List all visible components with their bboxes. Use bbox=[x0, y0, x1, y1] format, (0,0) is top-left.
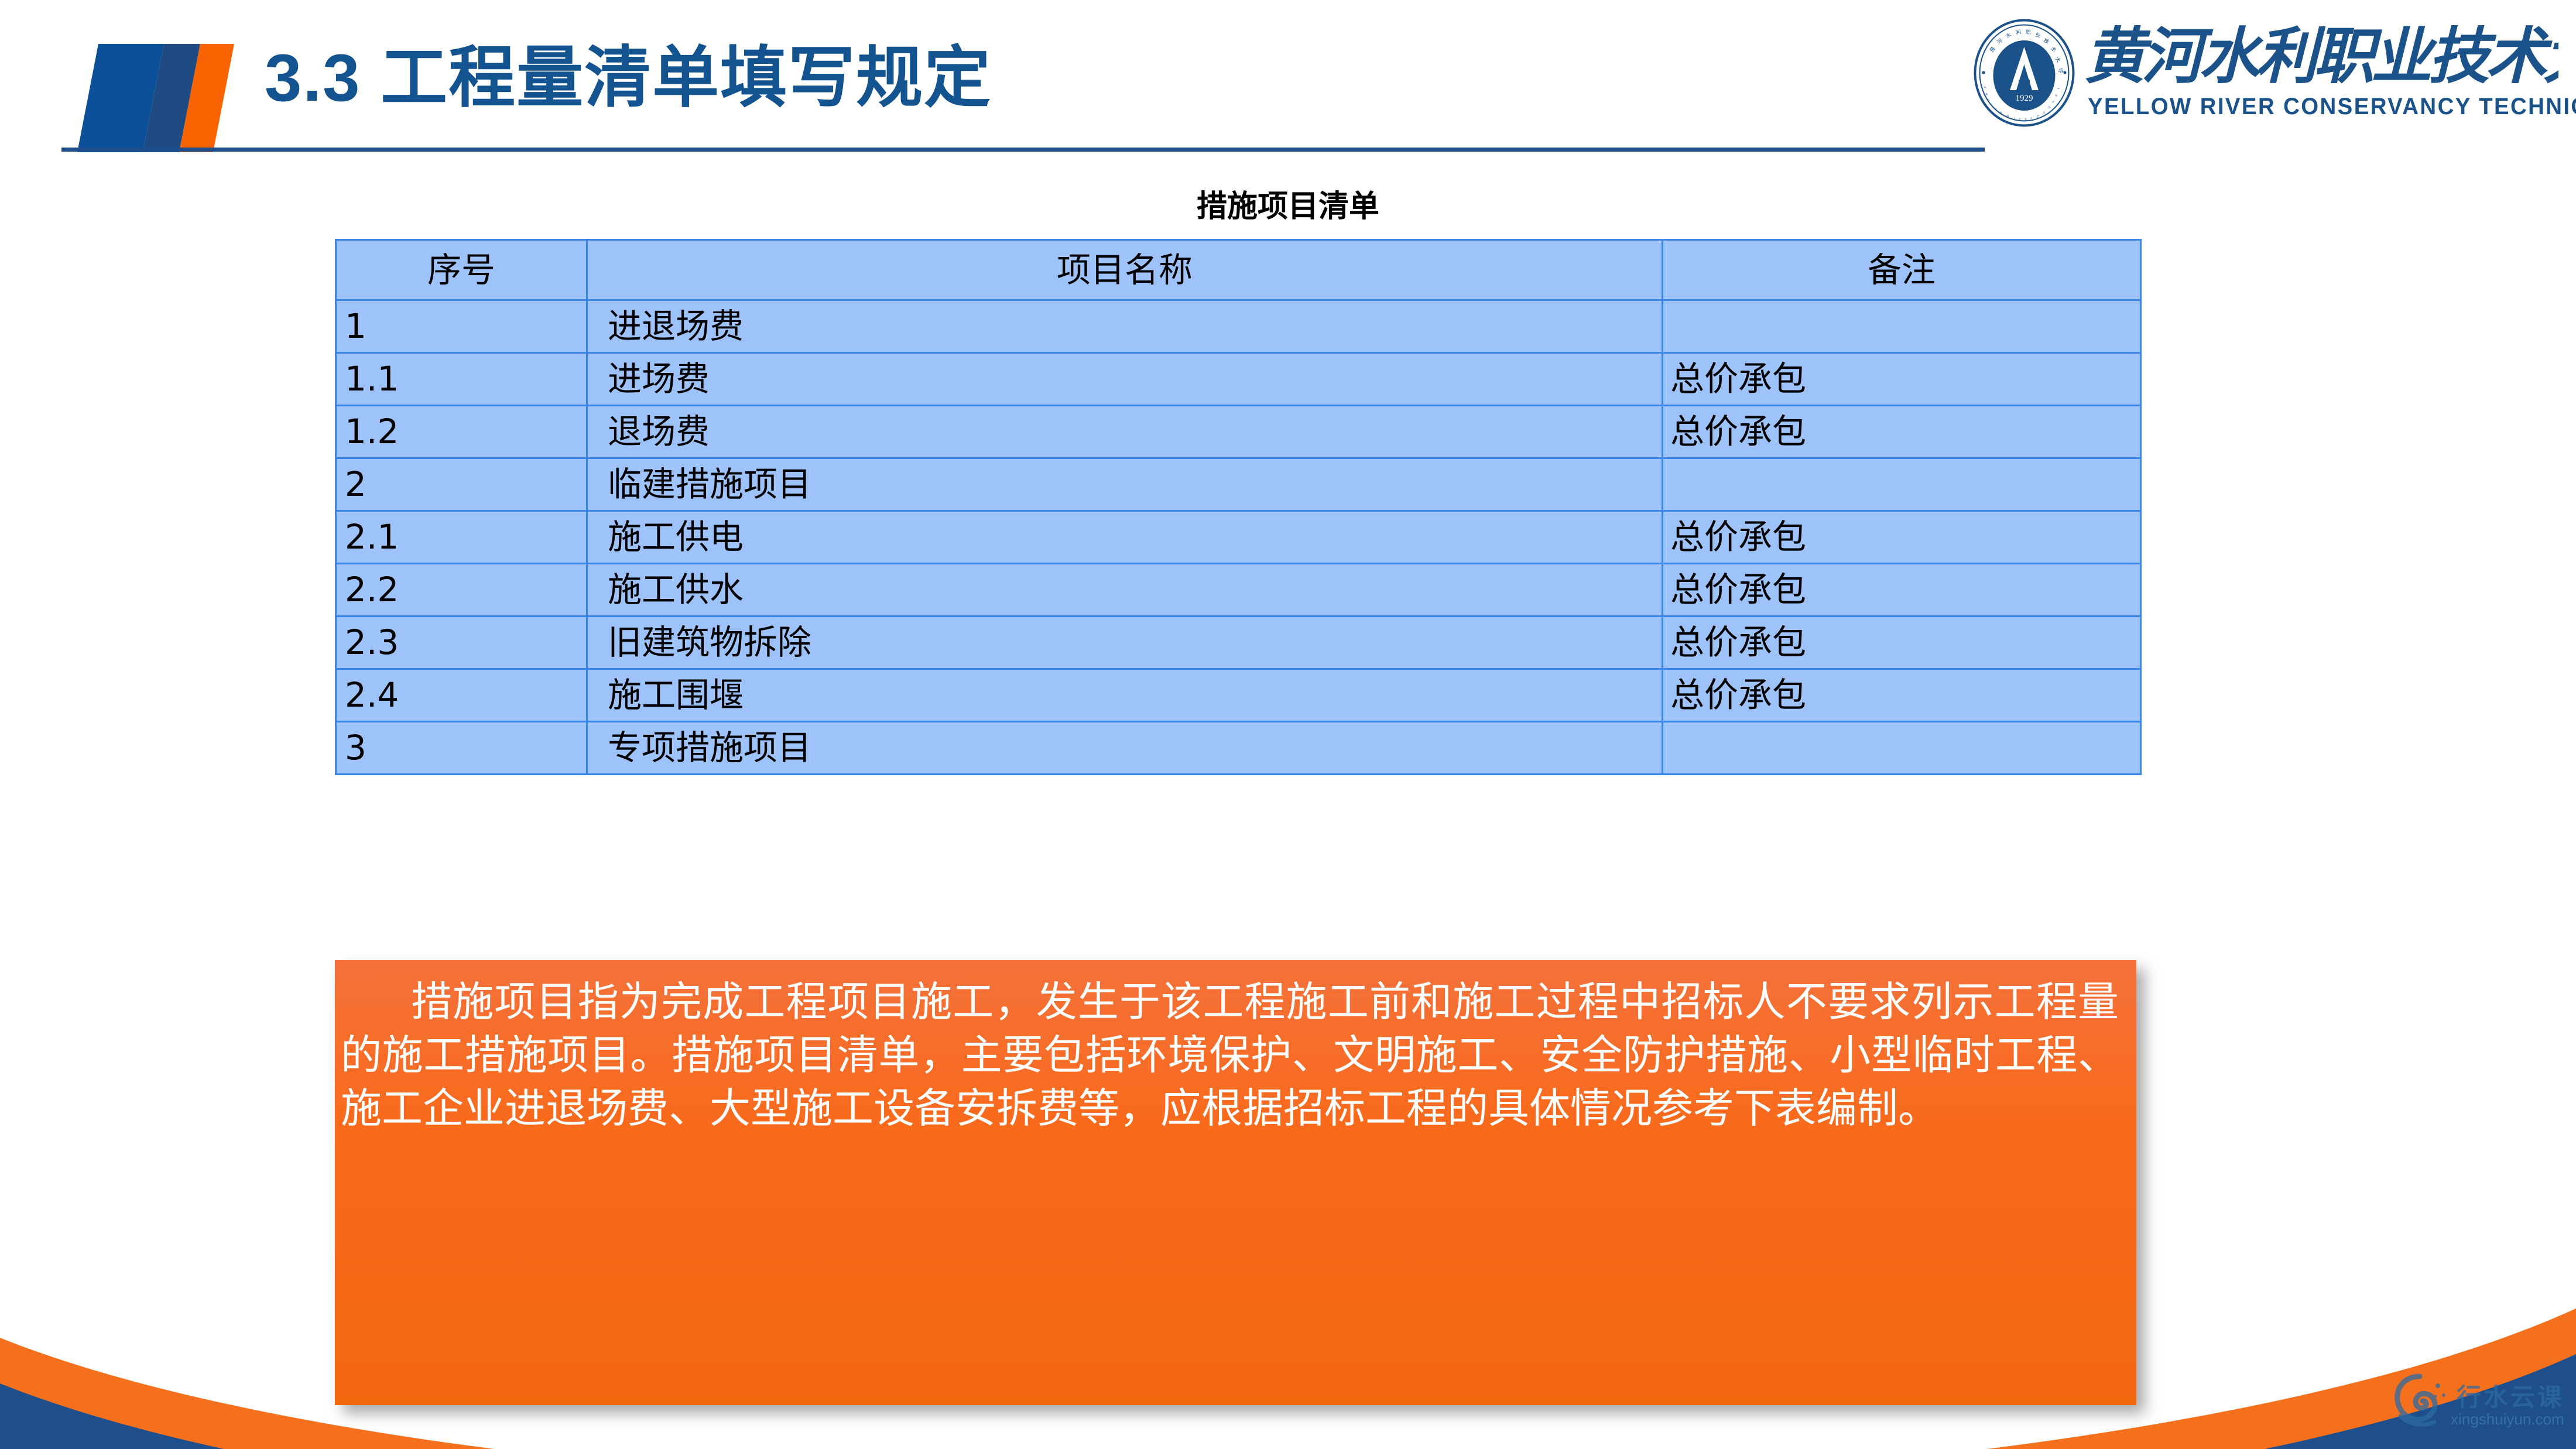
cell-name: 施工供水 bbox=[587, 564, 1663, 616]
page-title: 3.3 工程量清单填写规定 bbox=[265, 43, 992, 114]
table-row: 2.4 施工围堰 总价承包 bbox=[336, 669, 2141, 722]
svg-text:e: e bbox=[2054, 94, 2058, 97]
svg-text:业: 业 bbox=[2034, 32, 2041, 39]
column-header-no: 序号 bbox=[336, 240, 587, 300]
cell-note bbox=[1663, 458, 2141, 511]
watermark: 行水云课 xingshuiyun.com bbox=[2387, 1368, 2563, 1438]
svg-text:n: n bbox=[2047, 106, 2051, 109]
svg-text:黄: 黄 bbox=[1988, 45, 1997, 53]
column-header-note: 备注 bbox=[1663, 240, 2141, 300]
svg-text:v: v bbox=[2019, 118, 2021, 121]
cell-no: 1.1 bbox=[336, 353, 587, 406]
cell-name: 进退场费 bbox=[587, 300, 1663, 353]
svg-text:学: 学 bbox=[2056, 67, 2065, 75]
cell-no: 3 bbox=[336, 722, 587, 775]
svg-text:Y: Y bbox=[1984, 86, 1988, 90]
table-caption: 措施项目清单 bbox=[0, 181, 2576, 225]
table-row: 2.2 施工供水 总价承包 bbox=[336, 564, 2141, 616]
university-logo: 1929 黄 河 水 利 职 业 技 术 大 学 Y e l l o w R bbox=[1973, 13, 2564, 133]
table-row: 1.2 退场费 总价承包 bbox=[336, 406, 2141, 458]
cell-note bbox=[1663, 722, 2141, 775]
svg-text:l: l bbox=[1990, 103, 1993, 106]
cell-name: 进场费 bbox=[587, 353, 1663, 406]
column-header-name: 项目名称 bbox=[587, 240, 1663, 300]
cell-note: 总价承包 bbox=[1663, 616, 2141, 669]
title-accent-bars bbox=[88, 44, 240, 152]
cell-name: 施工围堰 bbox=[587, 669, 1663, 722]
watermark-url: xingshuiyun.com bbox=[2451, 1410, 2564, 1429]
slide-canvas: 3.3 工程量清单填写规定 1929 黄 河 水 利 职 业 技 术 大 学 bbox=[0, 0, 2576, 1449]
cell-no: 2.3 bbox=[336, 616, 587, 669]
cell-no: 1.2 bbox=[336, 406, 587, 458]
table-row: 1 进退场费 bbox=[336, 300, 2141, 353]
svg-text:i: i bbox=[2014, 117, 2015, 121]
university-name-en: YELLOW RIVER CONSERVANCY TECHNICAL UNIVE… bbox=[2088, 94, 2537, 120]
cell-no: 2.2 bbox=[336, 564, 587, 616]
cell-no: 1 bbox=[336, 300, 587, 353]
svg-text:e: e bbox=[1985, 93, 1989, 96]
svg-text:技: 技 bbox=[2043, 37, 2050, 46]
table-row: 1.1 进场费 总价承包 bbox=[336, 353, 2141, 406]
svg-text:s: s bbox=[2051, 100, 2055, 103]
cell-name: 临建措施项目 bbox=[587, 458, 1663, 511]
table-header-row: 序号 项目名称 备注 bbox=[336, 240, 2141, 300]
cell-no: 2.1 bbox=[336, 511, 587, 564]
svg-text:r: r bbox=[2056, 88, 2060, 90]
title-divider bbox=[61, 148, 1985, 152]
table-row: 3 专项措施项目 bbox=[336, 722, 2141, 775]
svg-text:R: R bbox=[2006, 115, 2010, 119]
cell-note: 总价承包 bbox=[1663, 669, 2141, 722]
wave-spiral-icon bbox=[2387, 1368, 2452, 1433]
svg-text:职: 职 bbox=[2026, 29, 2031, 36]
cell-name: 退场费 bbox=[587, 406, 1663, 458]
university-seal-icon: 1929 黄 河 水 利 职 业 技 术 大 学 Y e l l o w R bbox=[1973, 19, 2075, 127]
svg-text:术: 术 bbox=[2049, 45, 2058, 54]
university-name-cn-calligraphy: 黄河水利职业技术大学 bbox=[2084, 21, 2558, 91]
table-row: 2.1 施工供电 总价承包 bbox=[336, 511, 2141, 564]
cell-no: 2 bbox=[336, 458, 587, 511]
cell-no: 2.4 bbox=[336, 669, 587, 722]
university-name-cn-text: 黄河水利职业技术大学 bbox=[2084, 21, 2558, 91]
cell-note: 总价承包 bbox=[1663, 511, 2141, 564]
svg-text:水: 水 bbox=[2005, 31, 2013, 40]
seal-year-text: 1929 bbox=[2016, 94, 2033, 103]
cell-name: 旧建筑物拆除 bbox=[587, 616, 1663, 669]
watermark-brand: 行水云课 bbox=[2457, 1378, 2564, 1413]
table-row: 2.3 旧建筑物拆除 总价承包 bbox=[336, 616, 2141, 669]
measure-items-table: 序号 项目名称 备注 1 进退场费 1.1 进场费 总价承包 1.2 退场费 总… bbox=[335, 239, 2142, 775]
svg-text:利: 利 bbox=[2015, 28, 2022, 36]
cell-note: 总价承包 bbox=[1663, 564, 2141, 616]
cell-name: 施工供电 bbox=[587, 511, 1663, 564]
table-row: 2 临建措施项目 bbox=[336, 458, 2141, 511]
cell-name: 专项措施项目 bbox=[587, 722, 1663, 775]
svg-text:o: o bbox=[2042, 111, 2046, 115]
cell-note bbox=[1663, 300, 2141, 353]
cell-note: 总价承包 bbox=[1663, 406, 2141, 458]
svg-text:大: 大 bbox=[2054, 56, 2063, 64]
svg-text:河: 河 bbox=[1995, 37, 2004, 46]
explanation-text: 措施项目指为完成工程项目施工，发生于该工程施工前和施工过程中招标人不要求列示工程… bbox=[341, 975, 2119, 1135]
bottom-decoration bbox=[0, 1238, 2576, 1449]
cell-note: 总价承包 bbox=[1663, 353, 2141, 406]
decoration-arc-orange bbox=[0, 1308, 2576, 1449]
